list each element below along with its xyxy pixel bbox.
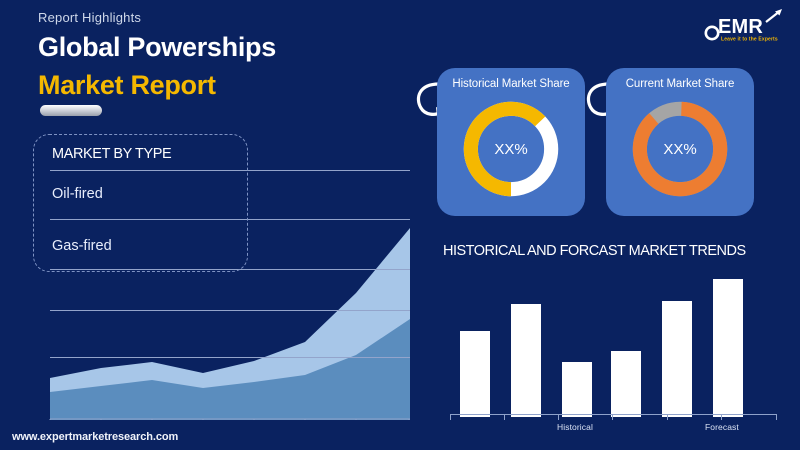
bar-5: [662, 301, 692, 417]
page-title-line2: Market Report: [38, 70, 216, 101]
footer-url[interactable]: www.expertmarketresearch.com: [12, 431, 178, 443]
current-market-share-card[interactable]: Current Market Share XX%: [606, 68, 754, 216]
market-type-item-oil-fired: Oil-fired: [52, 186, 103, 202]
bar-4: [611, 351, 641, 417]
emr-logo: EMR Leave it to the Experts: [696, 6, 788, 46]
bar-chart-title: HISTORICAL AND FORCAST MARKET TRENDS: [443, 243, 746, 259]
report-highlights-slide: Report Highlights Global Powerships Mark…: [0, 0, 800, 450]
bar-axis-label-forecast: Forecast: [705, 422, 739, 432]
historical-market-share-card[interactable]: Historical Market Share XX%: [437, 68, 585, 216]
market-by-type-heading: MARKET BY TYPE: [52, 146, 171, 162]
svg-text:Leave it to the Experts: Leave it to the Experts: [721, 37, 778, 43]
market-trends-bar-chart: [437, 262, 787, 417]
area-grid-line: [50, 357, 410, 358]
market-type-item-gas-fired: Gas-fired: [52, 238, 112, 254]
current-share-donut: XX%: [627, 96, 733, 202]
bar-6: [713, 279, 743, 417]
bar-3: [562, 362, 592, 417]
historical-share-title: Historical Market Share: [437, 78, 585, 90]
area-grid-line: [50, 310, 410, 311]
title-underline-pill: [40, 105, 102, 116]
eyebrow-label: Report Highlights: [38, 10, 141, 25]
historical-share-donut: XX%: [458, 96, 564, 202]
bar-axis-label-historical: Historical: [557, 422, 593, 432]
page-title-line1: Global Powerships: [38, 32, 276, 63]
bar-1: [460, 331, 490, 417]
bar-2: [511, 304, 541, 417]
svg-text:EMR: EMR: [718, 16, 763, 38]
current-share-title: Current Market Share: [606, 78, 754, 90]
bar-chart-axis: [450, 414, 777, 415]
